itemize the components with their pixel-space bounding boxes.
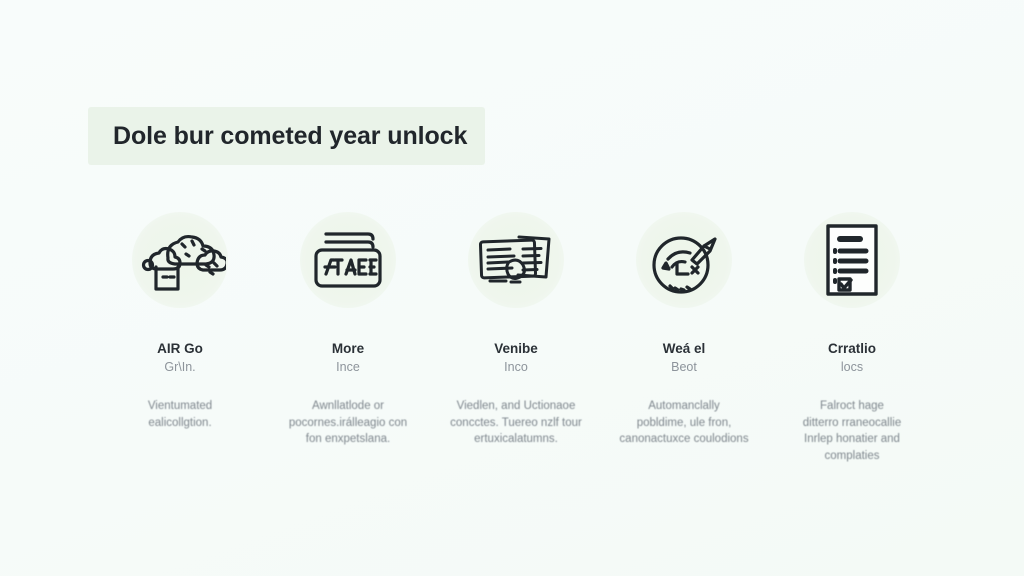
feature-icon-badge-1 — [132, 212, 228, 308]
feature-title-2: More — [332, 341, 364, 356]
feature-body-4: Automanclally pobldime, ule fron, canona… — [619, 398, 748, 448]
feature-icon-badge-2 — [300, 212, 396, 308]
feature-body-5: Falroct hage ditterro rraneocallie Inrle… — [803, 398, 901, 464]
feature-subtitle-3: Inco — [504, 360, 528, 374]
feature-title-1: AIR Go — [157, 341, 203, 356]
feature-item-5[interactable]: Crratlio locs Falroct hage ditterro rran… — [768, 212, 936, 464]
feature-icon-badge-4 — [636, 212, 732, 308]
feature-body-2: Awnllatlode or pocornes.irálleagio con f… — [289, 398, 407, 448]
page-title: Dole bur cometed year unlock — [113, 122, 467, 151]
clouds-icon — [134, 227, 226, 293]
feature-subtitle-4: Beot — [671, 360, 697, 374]
page-heading-band: Dole bur cometed year unlock — [88, 107, 485, 165]
feature-title-5: Crratlio — [828, 341, 876, 356]
feature-item-3[interactable]: Venibe Inco Viedlen, and Uctionaoe concc… — [432, 212, 600, 448]
card-text-icon — [309, 226, 387, 294]
feature-body-3: Viedlen, and Uctionaoe concctes. Tuereo … — [450, 398, 582, 448]
feature-row: AIR Go Gr\In. Vientumated ealicollgtion. — [96, 212, 936, 464]
feature-subtitle-2: Ince — [336, 360, 360, 374]
feature-subtitle-5: locs — [841, 360, 863, 374]
feature-item-2[interactable]: More Ince Awnllatlode or pocornes.irálle… — [264, 212, 432, 448]
feature-item-1[interactable]: AIR Go Gr\In. Vientumated ealicollgtion. — [96, 212, 264, 431]
feature-title-3: Venibe — [494, 341, 538, 356]
checklist-document-icon — [820, 221, 884, 299]
page-background: Dole bur cometed year unlock — [0, 0, 1024, 576]
feature-item-4[interactable]: Weá el Beot Automanclally pobldime, ule … — [600, 212, 768, 448]
feature-icon-badge-5 — [804, 212, 900, 308]
feature-subtitle-1: Gr\In. — [164, 360, 195, 374]
feature-body-1: Vientumated ealicollgtion. — [148, 398, 212, 431]
target-arrow-icon — [646, 223, 722, 297]
feature-icon-badge-3 — [468, 212, 564, 308]
documents-icon — [475, 229, 557, 291]
feature-title-4: Weá el — [663, 341, 706, 356]
